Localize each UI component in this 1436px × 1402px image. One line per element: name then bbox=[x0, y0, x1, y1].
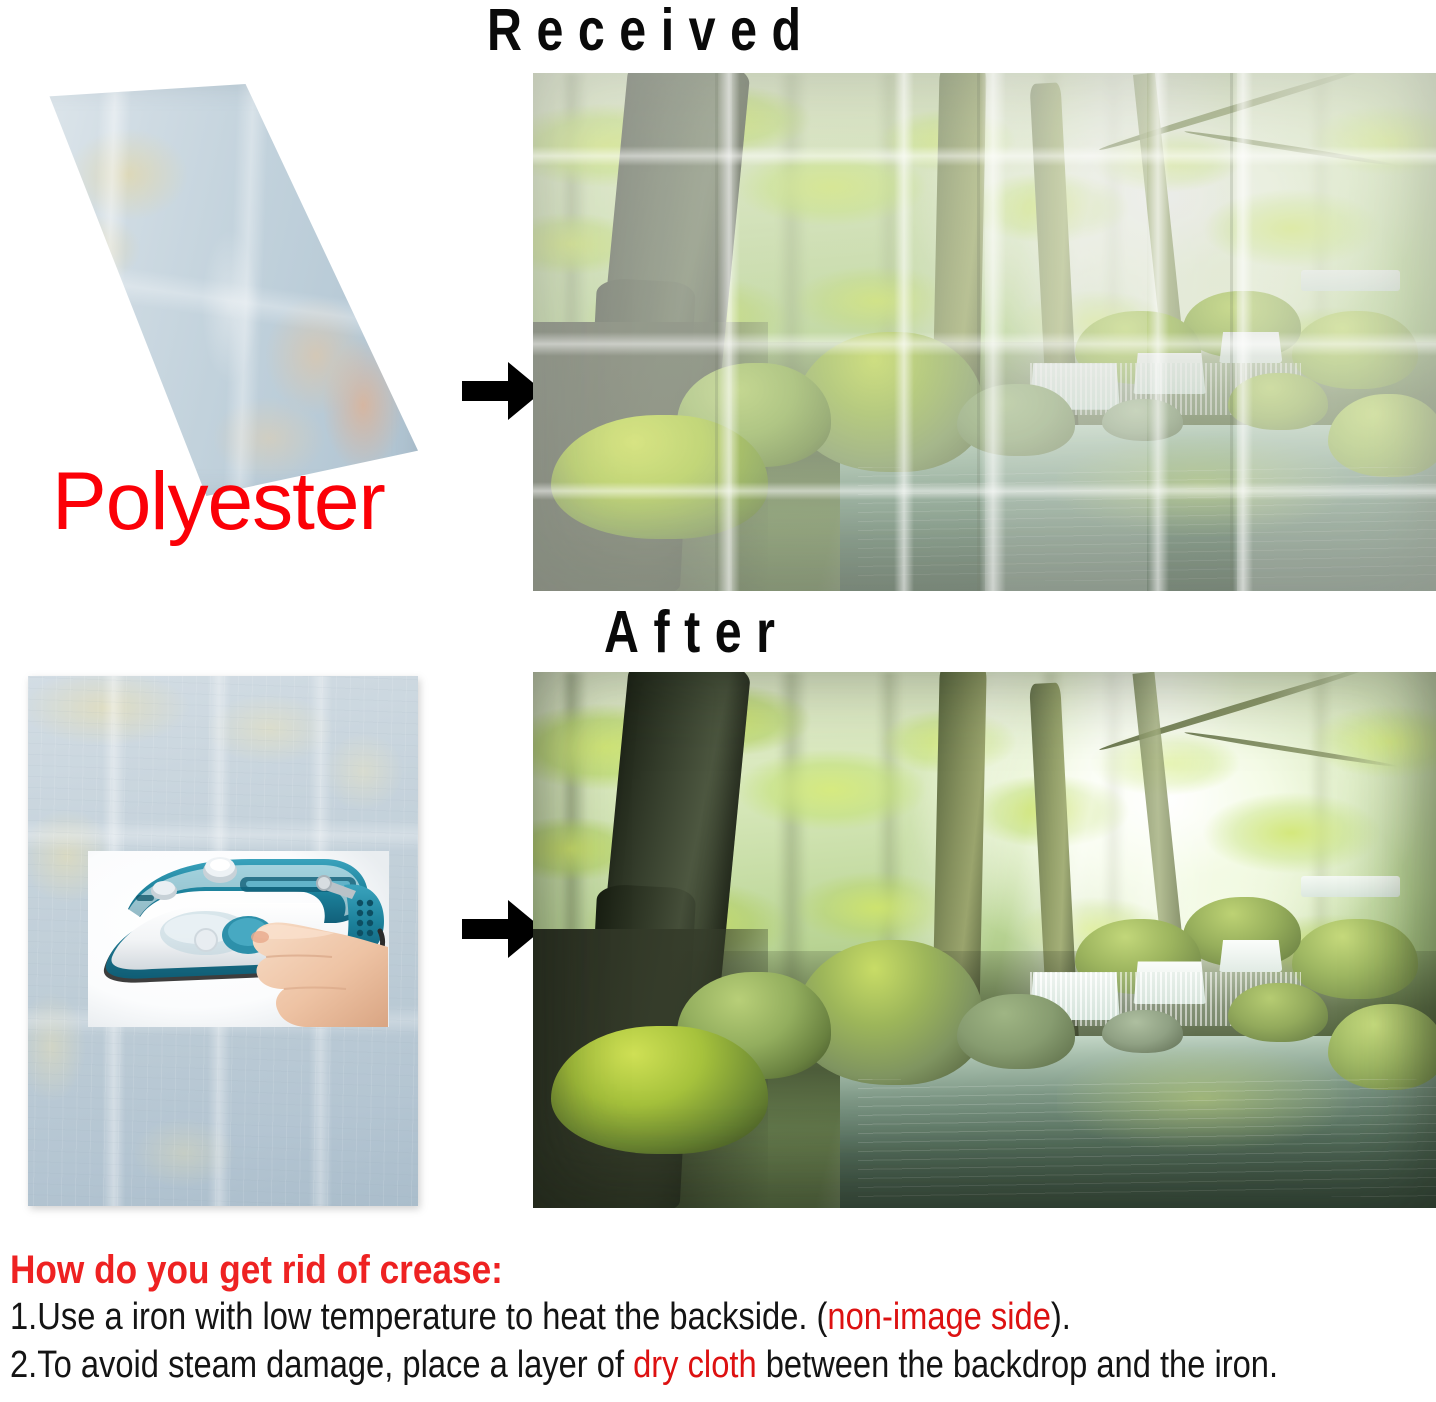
polyester-label: Polyester bbox=[52, 461, 385, 543]
instruction-2-text-a: To avoid steam damage, place a layer of bbox=[37, 1344, 633, 1386]
arrow-right-icon bbox=[462, 360, 544, 422]
instruction-line-2: 2.To avoid steam damage, place a layer o… bbox=[10, 1341, 1231, 1390]
instruction-1-number: 1. bbox=[10, 1296, 37, 1338]
iron-photo-card bbox=[88, 851, 389, 1027]
folded-fabric-thumbnail bbox=[26, 84, 418, 496]
forest-scene-creased bbox=[533, 73, 1436, 591]
crease-haze bbox=[533, 73, 1436, 591]
instruction-2-text-b: between the backdrop and the iron. bbox=[757, 1344, 1278, 1386]
fabric-sheet-edge bbox=[26, 84, 418, 496]
iron-illustration bbox=[88, 851, 389, 1027]
section-title-after: After bbox=[604, 598, 789, 666]
received-backdrop-photo bbox=[533, 73, 1436, 591]
after-backdrop-photo bbox=[533, 672, 1436, 1208]
scene-vignette bbox=[533, 672, 1436, 1208]
infographic-canvas: Received Polyester bbox=[0, 0, 1436, 1402]
forest-scene-smooth bbox=[533, 672, 1436, 1208]
section-title-received: Received bbox=[487, 0, 816, 64]
arrow-right-icon bbox=[462, 898, 544, 960]
instruction-1-text-a: Use a iron with low temperature to heat … bbox=[37, 1296, 827, 1338]
instruction-1-text-b: ). bbox=[1051, 1296, 1071, 1338]
instructions-heading: How do you get rid of crease: bbox=[10, 1248, 1260, 1293]
instructions-block: How do you get rid of crease: 1.Use a ir… bbox=[10, 1248, 1430, 1390]
instruction-2-number: 2. bbox=[10, 1344, 37, 1386]
instruction-1-text-highlight: non-image side bbox=[827, 1296, 1050, 1338]
instruction-2-text-highlight: dry cloth bbox=[633, 1344, 757, 1386]
instruction-line-1: 1.Use a iron with low temperature to hea… bbox=[10, 1293, 1231, 1342]
